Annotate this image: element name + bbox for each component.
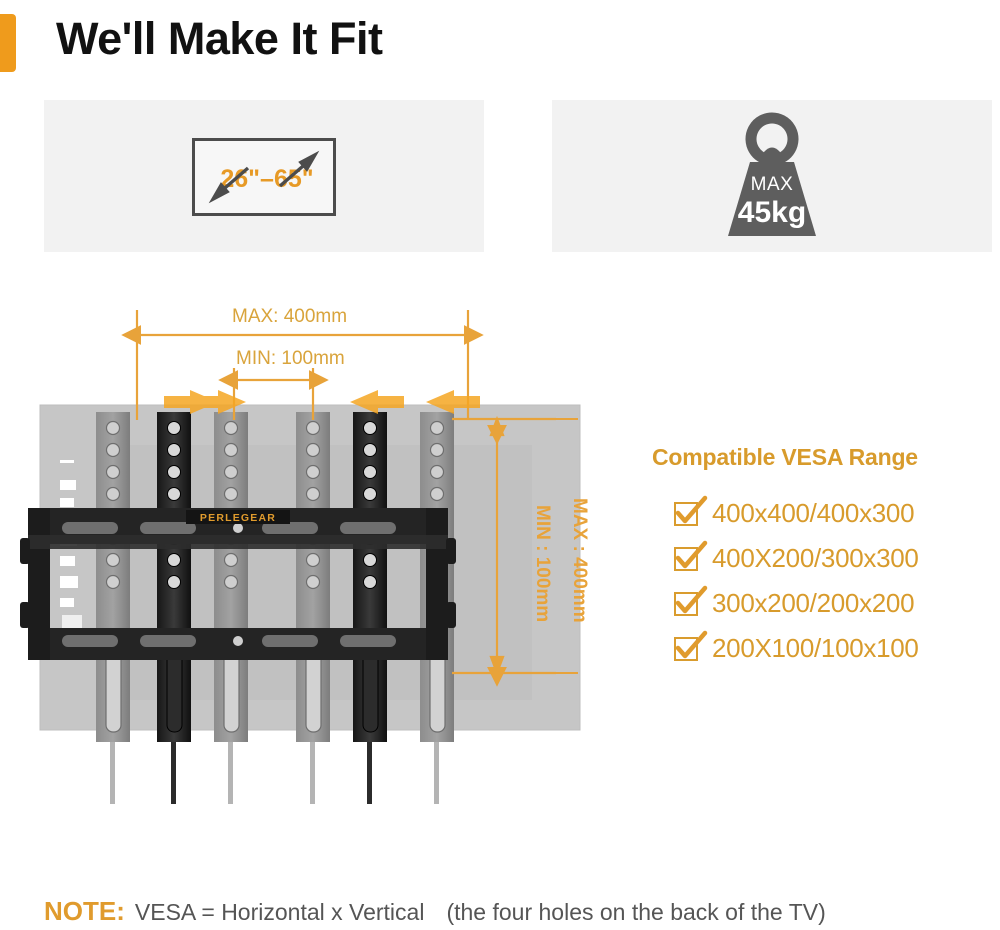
note-label: NOTE:: [44, 896, 125, 927]
note-line: NOTE: VESA = Horizontal x Vertical (the …: [44, 896, 826, 927]
page-title: We'll Make It Fit: [56, 13, 382, 65]
checkbox-checked-icon: [674, 637, 698, 661]
vertical-min-label: MIN : 100mm: [531, 505, 553, 622]
vesa-list-item: 400x400/400x300: [674, 491, 992, 536]
checkbox-checked-icon: [674, 502, 698, 526]
horizontal-min-label: MIN: 100mm: [236, 348, 345, 370]
vertical-max-label: MAX : 400mm: [568, 498, 590, 623]
vesa-item-label: 400X200/300x300: [712, 543, 919, 574]
vesa-list-item: 300x200/200x200: [674, 581, 992, 626]
vesa-heading: Compatible VESA Range: [652, 444, 992, 471]
screen-size-card: 26"–65": [44, 100, 484, 252]
vesa-item-label: 400x400/400x300: [712, 498, 914, 529]
note-text: VESA = Horizontal x Vertical: [135, 899, 425, 926]
vesa-item-label: 200X100/100x100: [712, 633, 919, 664]
checkbox-checked-icon: [674, 547, 698, 571]
checkbox-checked-icon: [674, 592, 698, 616]
vesa-compatibility-block: Compatible VESA Range 400x400/400x300 40…: [652, 444, 992, 671]
weight-block-icon: MAX 45kg: [712, 112, 832, 245]
title-accent-bar: [0, 14, 16, 72]
note-parenthetical: (the four holes on the back of the TV): [446, 899, 825, 926]
weight-max-label: MAX: [712, 174, 832, 196]
vesa-item-label: 300x200/200x200: [712, 588, 914, 619]
diagonal-arrow-icon: [192, 138, 336, 216]
weight-capacity-value: 45kg: [712, 196, 832, 230]
weight-capacity-card: MAX 45kg: [552, 100, 992, 252]
brand-label: PERLEGEAR: [200, 512, 276, 524]
tv-mount-diagram: MAX: 400mm MIN: 100mm MIN : 100mm MAX : …: [0, 290, 620, 810]
vesa-list-item: 400X200/300x300: [674, 536, 992, 581]
horizontal-max-label: MAX: 400mm: [232, 306, 347, 328]
vesa-list-item: 200X100/100x100: [674, 626, 992, 671]
